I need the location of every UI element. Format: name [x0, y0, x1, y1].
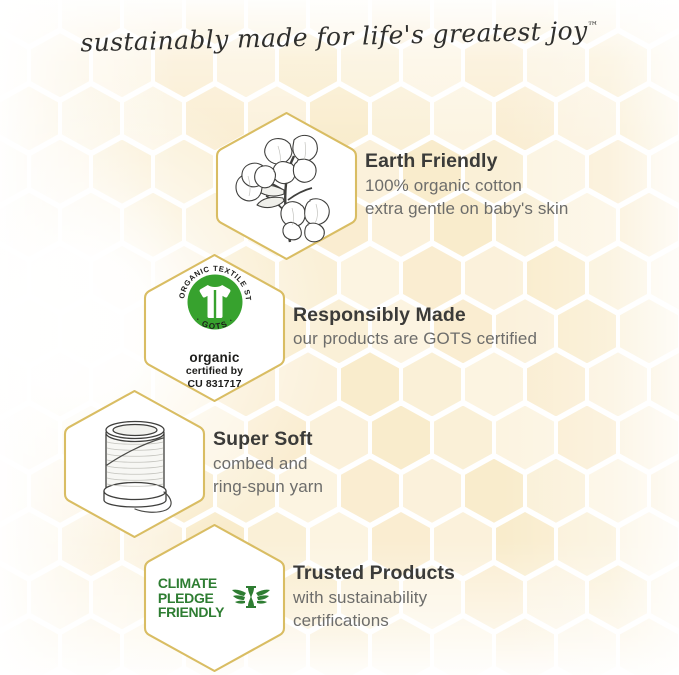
feature-copy: Earth Friendly 100% organic cotton extra…	[365, 149, 568, 222]
feature-trusted-products: CLIMATE PLEDGE FRIENDLY	[142, 522, 455, 674]
feature-title: Trusted Products	[293, 561, 455, 587]
gots-certified-by-label: certified by	[186, 365, 243, 378]
cotton-boll-sketch-icon	[214, 110, 359, 262]
feature-earth-friendly: Earth Friendly 100% organic cotton extra…	[214, 110, 568, 262]
gots-seal-icon: GLOBAL ORGANIC TEXTILE STANDARD · GOTS ·	[172, 259, 258, 345]
feature-line: 100% organic cotton	[365, 175, 568, 198]
feature-title: Super Soft	[213, 427, 323, 453]
climate-pledge-wordmark: CLIMATE PLEDGE FRIENDLY	[158, 576, 224, 621]
hexagon-frame	[214, 110, 359, 262]
feature-copy: Trusted Products with sustainability cer…	[293, 561, 455, 634]
trademark-symbol: ™	[587, 19, 598, 32]
feature-line: our products are GOTS certified	[293, 328, 537, 351]
feature-line: extra gentle on baby's skin	[365, 198, 568, 221]
feature-line: with sustainability	[293, 587, 455, 610]
feature-copy: Responsibly Made our products are GOTS c…	[293, 303, 537, 354]
hexagon-frame: CLIMATE PLEDGE FRIENDLY	[142, 522, 287, 674]
page-headline: sustainably made for life's greatest joy…	[0, 14, 679, 60]
climate-pledge-word-3: FRIENDLY	[158, 605, 224, 620]
climate-pledge-word-2: PLEDGE	[158, 591, 224, 606]
feature-title: Earth Friendly	[365, 149, 568, 175]
hexagon-frame	[62, 388, 207, 540]
gots-organic-label: organic	[189, 350, 239, 365]
feature-copy: Super Soft combed and ring-spun yarn	[213, 427, 323, 500]
feature-responsibly-made: GLOBAL ORGANIC TEXTILE STANDARD · GOTS ·…	[142, 252, 537, 404]
thread-spool-sketch-icon	[62, 388, 207, 540]
hexagon-frame: GLOBAL ORGANIC TEXTILE STANDARD · GOTS ·…	[142, 252, 287, 404]
feature-line: ring-spun yarn	[213, 476, 323, 499]
feature-title: Responsibly Made	[293, 303, 537, 329]
gots-organic-certification-icon: GLOBAL ORGANIC TEXTILE STANDARD · GOTS ·…	[142, 252, 287, 404]
winged-hourglass-icon	[231, 578, 271, 618]
feature-line: combed and	[213, 453, 323, 476]
climate-pledge-friendly-icon: CLIMATE PLEDGE FRIENDLY	[142, 522, 287, 674]
climate-pledge-word-1: CLIMATE	[158, 576, 224, 591]
headline-text: sustainably made for life's greatest joy	[80, 16, 588, 57]
feature-line: certifications	[293, 610, 455, 633]
marketing-infographic: sustainably made for life's greatest joy…	[0, 0, 679, 675]
feature-super-soft: Super Soft combed and ring-spun yarn	[62, 388, 323, 540]
